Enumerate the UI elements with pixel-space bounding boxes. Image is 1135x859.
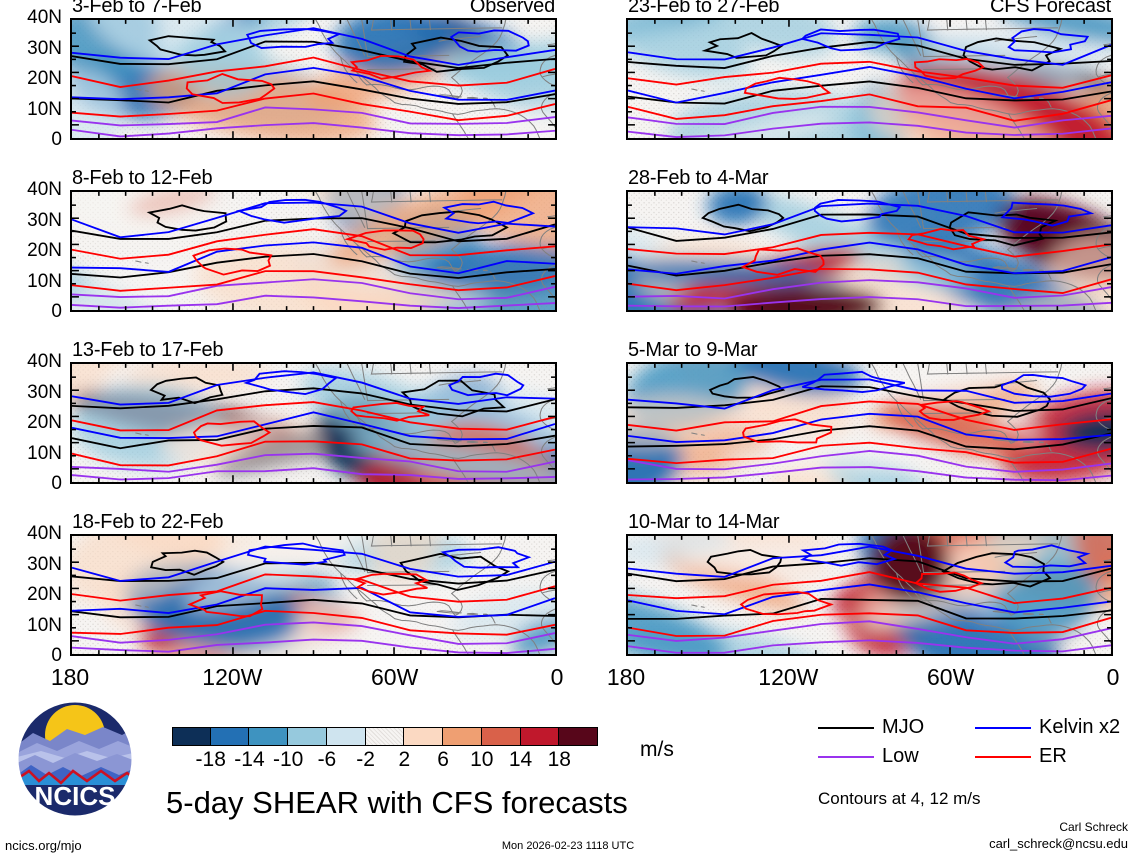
map-frame-fcs-3 <box>626 362 1113 484</box>
x-axis-tick-label: 0 <box>1107 664 1120 691</box>
y-axis-tick-label: 10N <box>2 271 62 293</box>
colorbar-tick-label: -14 <box>234 748 264 772</box>
y-axis-tick-label: 0 <box>2 473 62 495</box>
panel-fcs-1[interactable]: 23-Feb to 27-FebCFS Forecast <box>626 18 1113 140</box>
colorbar-tick-label: 10 <box>470 748 493 772</box>
colorbar-tick-label: 6 <box>437 748 449 772</box>
panel-title-obs-4: 18-Feb to 22-Feb <box>72 511 223 534</box>
x-axis-tick-label: 180 <box>51 664 89 691</box>
map-field <box>628 20 1111 138</box>
ncics-logo[interactable]: NCICS <box>17 701 133 817</box>
map-field <box>72 192 555 310</box>
legend-label: Kelvin x2 <box>1039 716 1120 739</box>
map-field <box>628 364 1111 482</box>
legend-item-er: ER <box>975 745 1067 768</box>
legend-label: ER <box>1039 745 1067 768</box>
legend-item-mjo: MJO <box>818 716 924 739</box>
site-link[interactable]: ncics.org/mjo <box>5 838 82 853</box>
colorbar-tick-label: 18 <box>548 748 571 772</box>
author-email[interactable]: carl_schreck@ncsu.edu <box>989 836 1128 851</box>
map-field <box>72 364 555 482</box>
y-axis-tick-label: 0 <box>2 129 62 151</box>
map-field <box>72 536 555 654</box>
y-axis-tick-label: 40N <box>2 179 62 201</box>
y-axis-tick-label: 20N <box>2 68 62 90</box>
panel-title-fcs-4: 10-Mar to 14-Mar <box>628 511 779 534</box>
colorbar-tick-label: -10 <box>273 748 303 772</box>
legend-label: MJO <box>882 716 924 739</box>
panel-fcs-3[interactable]: 5-Mar to 9-Mar <box>626 362 1113 484</box>
colorbar-tick-label: -18 <box>196 748 226 772</box>
panel-corner-label-obs-1: Observed <box>470 0 555 18</box>
figure-root: 40N30N20N10N040N30N20N10N040N30N20N10N04… <box>0 0 1135 859</box>
panel-corner-label-fcs-1: CFS Forecast <box>990 0 1111 18</box>
colorbar-border <box>172 727 598 746</box>
y-axis-tick-label: 40N <box>2 7 62 29</box>
map-field <box>72 20 555 138</box>
legend-line-swatch <box>818 727 874 729</box>
x-axis-tick-label: 180 <box>607 664 645 691</box>
colorbar-tick-label: 2 <box>399 748 411 772</box>
map-frame-obs-4 <box>70 534 557 656</box>
timestamp: Mon 2026-02-23 1118 UTC <box>502 840 634 852</box>
panel-title-obs-1: 3-Feb to 7-Feb <box>72 0 202 18</box>
legend-item-low: Low <box>818 745 919 768</box>
legend-line-swatch <box>975 756 1031 758</box>
colorbar-tick-label: 14 <box>509 748 532 772</box>
x-axis-tick-label: 60W <box>927 664 974 691</box>
map-frame-obs-3 <box>70 362 557 484</box>
x-axis-tick-label: 120W <box>202 664 262 691</box>
panel-title-obs-2: 8-Feb to 12-Feb <box>72 167 212 190</box>
panel-title-fcs-1: 23-Feb to 27-Feb <box>628 0 779 18</box>
map-frame-obs-1 <box>70 18 557 140</box>
legend-label: Low <box>882 745 919 768</box>
colorbar-units-label: m/s <box>640 738 674 762</box>
ncics-logo-svg: NCICS <box>17 701 133 817</box>
x-axis-tick-label: 0 <box>551 664 564 691</box>
ncics-logo-text: NCICS <box>35 781 116 811</box>
y-axis-tick-label: 20N <box>2 584 62 606</box>
y-axis-tick-label: 20N <box>2 240 62 262</box>
panel-obs-1[interactable]: 3-Feb to 7-FebObserved <box>70 18 557 140</box>
colorbar-tick-label: -6 <box>318 748 337 772</box>
contour-note: Contours at 4, 12 m/s <box>818 789 981 809</box>
colorbar-tick-label: -2 <box>356 748 375 772</box>
colorbar[interactable] <box>172 727 598 746</box>
page-title: 5-day SHEAR with CFS forecasts <box>166 785 628 821</box>
y-axis-tick-label: 30N <box>2 382 62 404</box>
panel-title-fcs-2: 28-Feb to 4-Mar <box>628 167 768 190</box>
legend-line-swatch <box>818 756 874 758</box>
y-axis-tick-label: 40N <box>2 351 62 373</box>
y-axis-tick-label: 0 <box>2 301 62 323</box>
map-frame-fcs-4 <box>626 534 1113 656</box>
panel-fcs-2[interactable]: 28-Feb to 4-Mar <box>626 190 1113 312</box>
y-axis-tick-label: 30N <box>2 38 62 60</box>
y-axis-tick-label: 30N <box>2 210 62 232</box>
panel-fcs-4[interactable]: 10-Mar to 14-Mar <box>626 534 1113 656</box>
map-frame-fcs-1 <box>626 18 1113 140</box>
x-axis-tick-label: 60W <box>371 664 418 691</box>
x-axis-tick-label: 120W <box>758 664 818 691</box>
author-name: Carl Schreck <box>1059 820 1128 834</box>
y-axis-tick-label: 20N <box>2 412 62 434</box>
y-axis-tick-label: 30N <box>2 554 62 576</box>
y-axis-tick-label: 10N <box>2 443 62 465</box>
y-axis-tick-label: 10N <box>2 99 62 121</box>
panel-title-obs-3: 13-Feb to 17-Feb <box>72 339 223 362</box>
map-frame-fcs-2 <box>626 190 1113 312</box>
legend-line-swatch <box>975 727 1031 729</box>
panel-obs-2[interactable]: 8-Feb to 12-Feb <box>70 190 557 312</box>
panel-title-fcs-3: 5-Mar to 9-Mar <box>628 339 757 362</box>
map-field <box>628 192 1111 310</box>
map-frame-obs-2 <box>70 190 557 312</box>
y-axis-tick-label: 10N <box>2 615 62 637</box>
legend-item-kelvin-x2: Kelvin x2 <box>975 716 1120 739</box>
map-field <box>628 536 1111 654</box>
y-axis-tick-label: 40N <box>2 523 62 545</box>
panel-obs-3[interactable]: 13-Feb to 17-Feb <box>70 362 557 484</box>
panel-obs-4[interactable]: 18-Feb to 22-Feb <box>70 534 557 656</box>
